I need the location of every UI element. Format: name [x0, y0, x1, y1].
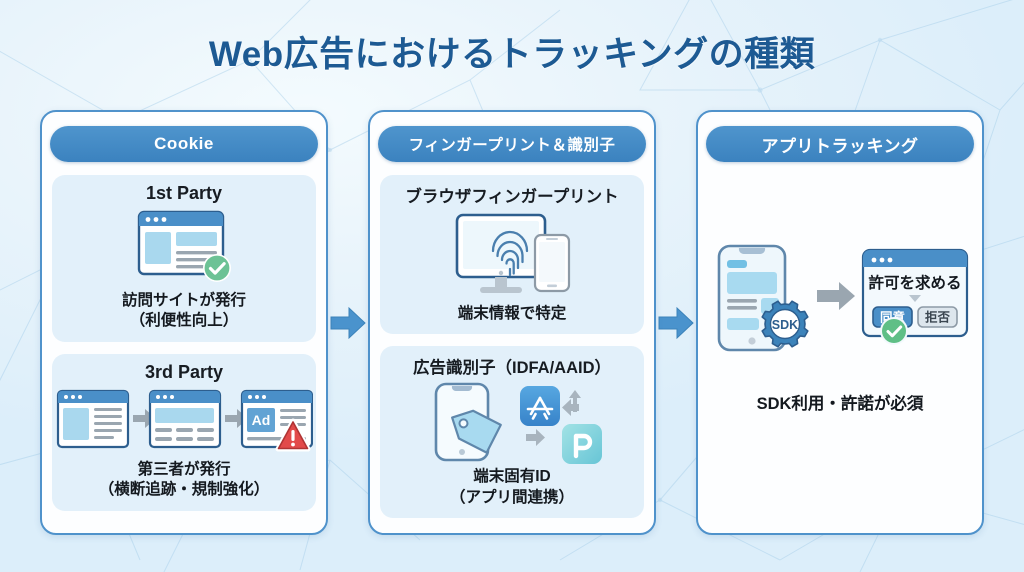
phone-sdk-gear-dialog-icon: SDK 許可を求める 同意 [705, 242, 975, 372]
caption-line-1: 訪問サイトが発行 [122, 292, 246, 309]
panel-fingerprint-identifier: フィンガープリント＆識別子 ブラウザフィンガープリント [368, 110, 656, 535]
svg-text:拒否: 拒否 [925, 309, 951, 324]
card-caption-sdk-consent: SDK利用・許諾が必須 [757, 390, 924, 414]
caption-line-1: 端末情報で特定 [458, 305, 567, 322]
caption-line-2: （利便性向上） [130, 312, 239, 329]
card-caption-browser-fingerprint: 端末情報で特定 [458, 304, 567, 324]
right-arrow-icon [657, 306, 695, 340]
card-caption-ad-identifier: 端末固有ID （アプリ間連携） [450, 467, 574, 508]
card-caption-first-party: 訪問サイトが発行 （利便性向上） [122, 291, 246, 332]
card-caption-third-party: 第三者が発行 （横断追跡・規制強化） [99, 460, 270, 501]
caption-line-1: 第三者が発行 [137, 461, 230, 478]
tracking-columns: Cookie 1st Party [40, 110, 984, 535]
caption-line-1: 端末固有ID [473, 468, 551, 485]
svg-text:Ad: Ad [252, 412, 271, 428]
card-ad-identifier: 広告識別子（IDFA/AAID） [380, 346, 644, 518]
monitor-fingerprint-phone-icon [447, 209, 577, 301]
panel-header-fingerprint-identifier: フィンガープリント＆識別子 [378, 126, 646, 162]
connector-gap-1 [328, 110, 368, 535]
svg-text:SDK: SDK [772, 318, 798, 332]
connector-gap-2 [656, 110, 696, 535]
card-title-ad-identifier: 広告識別子（IDFA/AAID） [413, 354, 611, 378]
svg-text:許可を求める: 許可を求める [868, 273, 961, 292]
panel-app-tracking: アプリトラッキング [696, 110, 984, 535]
phone-tag-appstore-icon [412, 380, 612, 464]
panel-cookie: Cookie 1st Party [40, 110, 328, 535]
card-title-browser-fingerprint: ブラウザフィンガープリント [405, 183, 618, 207]
card-first-party: 1st Party [52, 175, 316, 342]
caption-line-2: （アプリ間連携） [450, 489, 574, 506]
browser-window-check-icon [125, 206, 243, 288]
three-browsers-ad-warning-icon: Ad [55, 385, 313, 457]
panel-header-app-tracking: アプリトラッキング [706, 126, 974, 162]
card-title-third-party: 3rd Party [145, 362, 223, 383]
card-third-party: 3rd Party [52, 354, 316, 511]
caption-line-2: （横断追跡・規制強化） [99, 481, 270, 498]
page-title: Web広告におけるトラッキングの種類 [0, 26, 1024, 77]
card-browser-fingerprint: ブラウザフィンガープリント [380, 175, 644, 334]
card-sdk-consent: SDK 許可を求める 同意 [712, 162, 968, 521]
right-arrow-icon [329, 306, 367, 340]
card-title-first-party: 1st Party [146, 183, 222, 204]
panel-header-cookie: Cookie [50, 126, 318, 162]
